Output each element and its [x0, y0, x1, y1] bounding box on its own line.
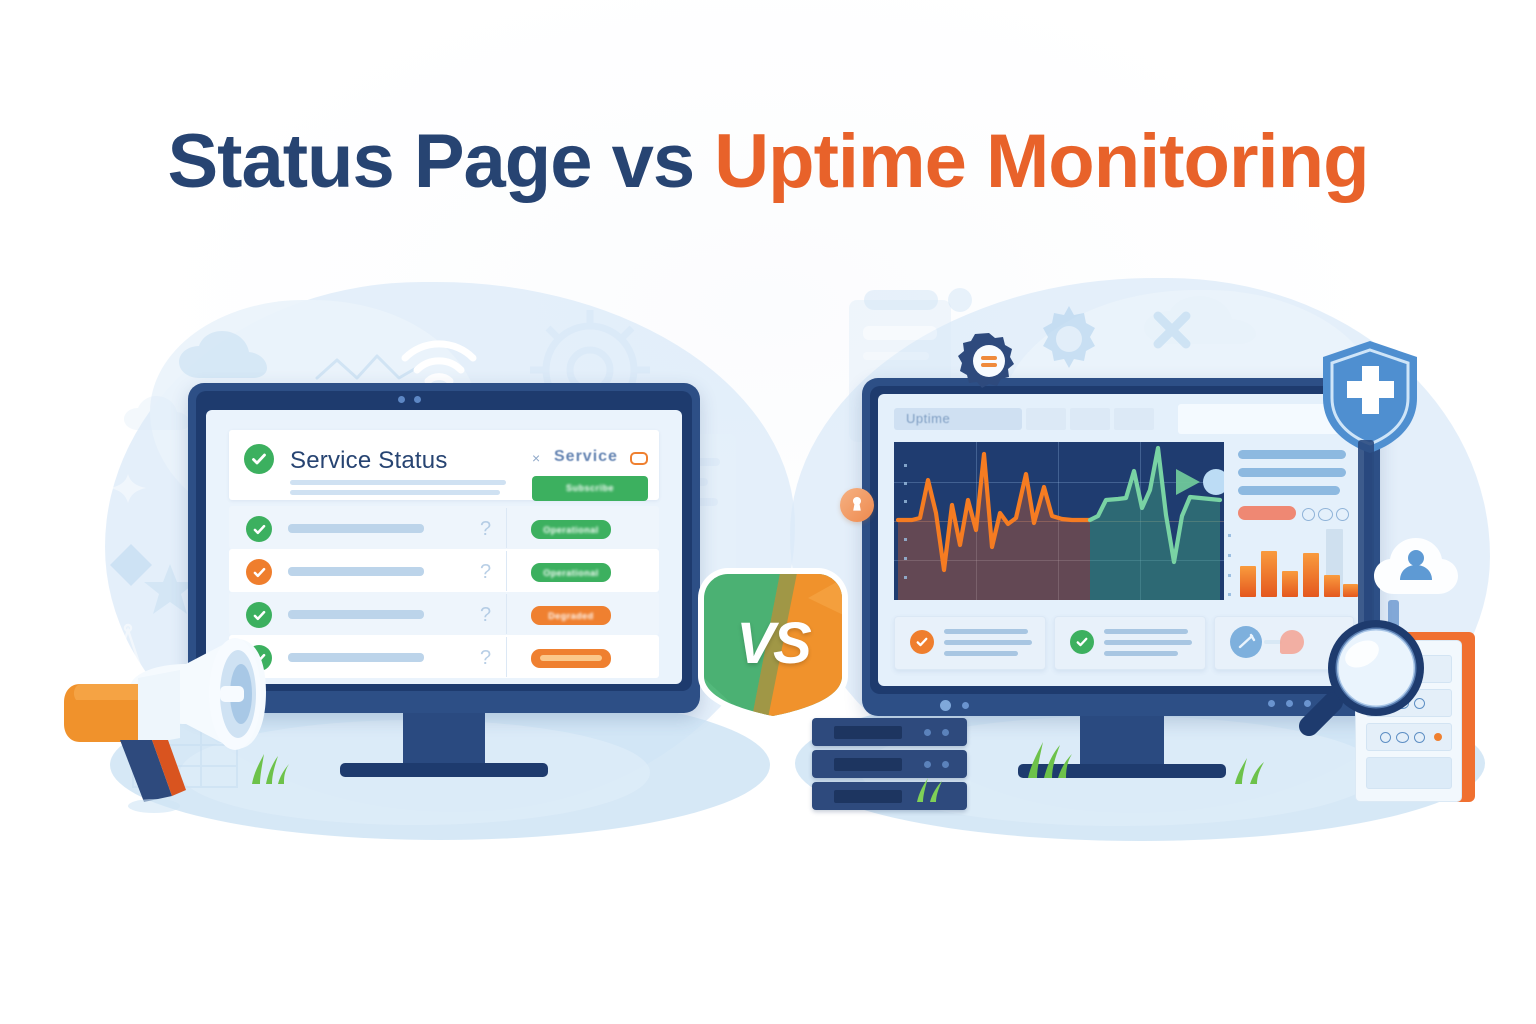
monitor-neck-left — [403, 713, 485, 765]
brand-logo-text: Service — [554, 448, 618, 466]
row-label-placeholder — [288, 610, 424, 619]
stat-card-line — [1104, 651, 1178, 656]
shield-cross-icon — [1318, 338, 1423, 456]
camera-dot — [398, 396, 405, 403]
monitor-power-button[interactable] — [940, 700, 951, 711]
mini-chart-tick — [1228, 534, 1231, 537]
gauge-icon — [1230, 626, 1262, 658]
page-title: Status Page vs Uptime Monitoring — [0, 118, 1536, 205]
check-circle-green-icon — [244, 444, 274, 474]
server-slot — [834, 790, 902, 803]
megaphone-icon — [60, 620, 330, 820]
title-left-part: Status Page vs — [167, 119, 714, 204]
panel-row — [1366, 757, 1452, 789]
row-label-placeholder — [288, 524, 424, 533]
brand-close-icon: × — [532, 450, 540, 466]
stat-card-line — [944, 651, 1018, 656]
grass-icon — [246, 752, 290, 789]
lock-badge-icon — [840, 488, 874, 522]
sidebar-highlight-pill — [1238, 506, 1296, 520]
server-led — [942, 729, 949, 736]
mini-chart-tick — [1228, 554, 1231, 557]
topbar-segment — [1114, 408, 1154, 430]
monitor-base-left — [340, 763, 548, 777]
check-circle-orange-icon — [910, 630, 934, 654]
mini-bar — [1303, 553, 1319, 597]
stat-card-line — [944, 629, 1028, 634]
brand-accent-icon — [630, 452, 648, 465]
monitor-led — [1268, 700, 1275, 707]
row-meta-glyph: ? — [480, 518, 491, 541]
topbar-segment — [1026, 408, 1066, 430]
mini-chart-tick — [1228, 593, 1231, 596]
server-led — [942, 761, 949, 768]
pill-shape-icon — [862, 282, 982, 316]
chart-series-svg — [894, 442, 1224, 600]
uptime-chart — [894, 442, 1224, 600]
mini-bar — [1343, 584, 1358, 597]
vs-badge-label: VS — [688, 558, 858, 728]
server-led — [924, 761, 931, 768]
illustration-canvas: Status Page vs Uptime Monitoring — [0, 0, 1536, 1024]
subscribe-button-label: Subscribe — [532, 483, 648, 493]
row-meta-glyph: ? — [480, 561, 491, 584]
stat-card-line — [1104, 629, 1188, 634]
gear-icon — [1030, 300, 1108, 378]
stat-card-line — [1104, 640, 1192, 645]
check-circle-green-icon — [1070, 630, 1094, 654]
grass-icon — [1022, 740, 1074, 783]
gear-badge-icon — [958, 330, 1020, 397]
mini-bar — [1282, 571, 1298, 597]
magnifier-icon — [1288, 608, 1438, 758]
sidebar-text-bar — [1238, 486, 1340, 495]
vs-badge: VS — [688, 558, 858, 728]
close-icon — [1150, 308, 1194, 352]
monitor-neck-right — [1080, 716, 1164, 766]
status-badge-label — [540, 655, 602, 661]
title-right-part: Uptime Monitoring — [714, 119, 1368, 204]
mini-bar — [1261, 551, 1277, 597]
sidebar-ring-icon — [1318, 508, 1333, 521]
mini-bar — [1324, 575, 1340, 597]
grass-icon — [1230, 756, 1268, 789]
sidebar-text-bar — [1238, 468, 1346, 477]
status-page-title: Service Status — [290, 447, 448, 475]
sidebar-ring-icon — [1302, 508, 1315, 521]
row-divider — [506, 551, 507, 591]
cloud-user-badge-icon — [1368, 528, 1464, 615]
location-pin-icon — [100, 540, 162, 602]
grass-icon — [912, 776, 946, 807]
stat-card-line — [944, 640, 1032, 645]
row-meta-glyph: ? — [480, 647, 491, 670]
row-divider — [506, 508, 507, 548]
sparkle-icon — [105, 470, 151, 514]
topbar-segment — [1070, 408, 1110, 430]
status-badge-label: Operational — [531, 525, 611, 535]
status-badge-label: Degraded — [531, 611, 611, 621]
mini-chart-tick — [1228, 574, 1231, 577]
mini-bar — [1240, 566, 1256, 597]
check-circle-orange-icon — [246, 559, 272, 585]
monitor-led — [962, 702, 969, 709]
row-meta-glyph: ? — [480, 604, 491, 627]
placeholder-line — [290, 480, 506, 485]
status-badge-label: Operational — [531, 568, 611, 578]
dashboard-topbar-label: Uptime — [906, 411, 950, 426]
row-label-placeholder — [288, 567, 424, 576]
row-divider — [506, 594, 507, 634]
check-circle-green-icon — [246, 516, 272, 542]
camera-dot — [414, 396, 421, 403]
placeholder-line — [290, 490, 500, 495]
sidebar-ring-icon — [1336, 508, 1349, 521]
row-divider — [506, 637, 507, 677]
server-slot — [834, 758, 902, 771]
server-led — [924, 729, 931, 736]
